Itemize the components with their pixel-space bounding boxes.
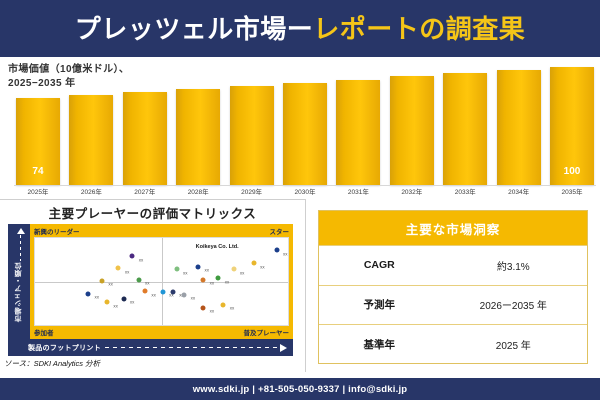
matrix-point-label: xx xyxy=(108,282,113,287)
matrix-data-point xyxy=(105,300,110,305)
insights-row-key: 基準年 xyxy=(319,337,440,352)
matrix-point-label: xx xyxy=(130,300,135,305)
source-note: ソース：SDKI Analytics 分析 xyxy=(4,358,100,369)
matrix-point-label: xx xyxy=(283,251,288,256)
x-axis-tick-label: 2030年 xyxy=(283,186,327,199)
insights-table-row: 予測年2026ー2035 年 xyxy=(319,285,587,325)
page-title-gold: レポートの調査果 xyxy=(313,14,525,44)
chart-bar: 100 xyxy=(550,67,594,185)
chart-bar xyxy=(390,76,434,185)
bar-slot xyxy=(123,61,167,185)
matrix-frame: 市場シェア・順位 新興のリーダー スター 参加者 普及プレーヤー Koikeya… xyxy=(8,224,293,339)
bar-value-label: 74 xyxy=(16,166,60,177)
insights-row-value: 2025 年 xyxy=(440,337,587,352)
matrix-data-point xyxy=(201,277,206,282)
x-axis-tick-label: 2034年 xyxy=(497,186,541,199)
x-axis-tick-label: 2026年 xyxy=(69,186,113,199)
bar-slot xyxy=(336,61,380,185)
matrix-data-point xyxy=(136,277,141,282)
right-arrow-icon xyxy=(280,344,287,352)
matrix-data-point xyxy=(231,267,236,272)
matrix-horizontal-divider xyxy=(35,282,288,283)
page-title: プレッツェル市場ーレポートの調査果 xyxy=(75,16,526,42)
matrix-x-axis: 製品のフットプリント xyxy=(8,339,293,356)
matrix-point-label: xx xyxy=(113,303,118,308)
page-title-white: プレッツェル市場ー xyxy=(75,14,314,44)
up-arrow-icon xyxy=(17,228,25,234)
chart-bar xyxy=(176,89,220,185)
bar-slot xyxy=(497,61,541,185)
matrix-data-point xyxy=(100,278,105,283)
chart-bar xyxy=(443,73,487,185)
matrix-scatter-area: Koikeya Co. Ltd. xxxxxxxxxxxxxxxxxxxxxxx… xyxy=(34,237,289,326)
bar-slot xyxy=(69,61,113,185)
matrix-data-point xyxy=(143,289,148,294)
insights-row-key: 予測年 xyxy=(319,297,440,312)
matrix-point-label: xx xyxy=(191,296,196,301)
matrix-point-label: xx xyxy=(139,257,144,262)
matrix-data-point xyxy=(196,264,201,269)
matrix-data-point xyxy=(216,276,221,281)
matrix-point-label: xx xyxy=(145,281,150,286)
matrix-data-point xyxy=(251,261,256,266)
bar-slot xyxy=(283,61,327,185)
matrix-y-axis: 市場シェア・順位 xyxy=(8,224,30,339)
matrix-point-label: xx xyxy=(205,268,210,273)
matrix-data-point xyxy=(160,289,165,294)
x-axis-tick-label: 2028年 xyxy=(176,186,220,199)
quadrant-label-stars: スター xyxy=(270,226,290,236)
x-axis-tick-label: 2032年 xyxy=(390,186,434,199)
insights-row-value: 2026ー2035 年 xyxy=(440,297,587,312)
x-axis-tick-label: 2033年 xyxy=(443,186,487,199)
bar-slot xyxy=(443,61,487,185)
chart-bar xyxy=(497,70,541,185)
insights-table-header: 主要な市場洞察 xyxy=(319,211,587,245)
matrix-data-point xyxy=(121,296,126,301)
x-axis-tick-label: 2029年 xyxy=(230,186,274,199)
bar-slot xyxy=(390,61,434,185)
insights-table-row: 基準年2025 年 xyxy=(319,324,587,364)
player-evaluation-matrix-panel: 主要プレーヤーの評価マトリックス 市場シェア・順位 新興のリーダー スター 参加… xyxy=(0,199,306,372)
quadrant-label-emerging-leaders: 新興のリーダー xyxy=(34,226,80,236)
matrix-data-point xyxy=(174,267,179,272)
x-axis-tick-label: 2027年 xyxy=(123,186,167,199)
matrix-data-point xyxy=(130,254,135,259)
market-value-bar-chart: 市場価値（10億米ドル）、 2025−2035 年 74100 2025年202… xyxy=(0,57,600,199)
matrix-inner: 新興のリーダー スター 参加者 普及プレーヤー Koikeya Co. Ltd.… xyxy=(30,224,293,339)
matrix-data-point xyxy=(201,305,206,310)
x-axis-tick-label: 2035年 xyxy=(550,186,594,199)
chart-x-axis-labels: 2025年2026年2027年2028年2029年2030年2031年2032年… xyxy=(16,186,594,199)
x-axis-tick-label: 2025年 xyxy=(16,186,60,199)
matrix-point-label: xx xyxy=(183,270,188,275)
chart-bars: 74100 xyxy=(16,61,594,185)
bar-value-label: 100 xyxy=(550,166,594,177)
chart-bar xyxy=(123,92,167,185)
quadrant-label-participants: 参加者 xyxy=(34,327,54,337)
bar-slot xyxy=(176,61,220,185)
matrix-point-label: xx xyxy=(230,306,235,311)
matrix-title: 主要プレーヤーの評価マトリックス xyxy=(0,203,305,222)
bar-slot: 100 xyxy=(550,61,594,185)
chart-bar xyxy=(69,95,113,185)
bar-slot: 74 xyxy=(16,61,60,185)
insights-row-value: 約3.1% xyxy=(440,258,587,273)
matrix-point-label: xx xyxy=(125,269,130,274)
matrix-point-label: xx xyxy=(240,270,245,275)
chart-bar: 74 xyxy=(16,98,60,185)
x-axis-tick-label: 2031年 xyxy=(336,186,380,199)
insights-table-row: CAGR約3.1% xyxy=(319,245,587,285)
chart-bar xyxy=(230,86,274,185)
matrix-leader-company-label: Koikeya Co. Ltd. xyxy=(196,244,239,250)
y-axis-dashed-line xyxy=(20,235,21,261)
matrix-data-point xyxy=(86,291,91,296)
footer-contact-text: www.sdki.jp | +81-505-050-9337 | info@sd… xyxy=(193,384,408,395)
page-footer: www.sdki.jp | +81-505-050-9337 | info@sd… xyxy=(0,378,600,400)
insights-table-body: CAGR約3.1%予測年2026ー2035 年基準年2025 年 xyxy=(319,245,587,364)
matrix-data-point xyxy=(274,248,279,253)
insights-row-key: CAGR xyxy=(319,259,440,271)
matrix-point-label: xx xyxy=(151,292,156,297)
chart-plot-area: 74100 xyxy=(16,61,594,185)
matrix-data-point xyxy=(116,266,121,271)
page-header: プレッツェル市場ーレポートの調査果 xyxy=(0,0,600,57)
matrix-point-label: xx xyxy=(260,264,265,269)
quadrant-label-pervasive-players: 普及プレーヤー xyxy=(244,327,290,337)
key-market-insights-table: 主要な市場洞察 CAGR約3.1%予測年2026ー2035 年基準年2025 年 xyxy=(318,210,588,364)
matrix-data-point xyxy=(170,289,175,294)
bar-slot xyxy=(230,61,274,185)
matrix-x-axis-label: 製品のフットプリント xyxy=(28,343,101,353)
matrix-point-label: xx xyxy=(94,295,99,300)
matrix-point-label: xx xyxy=(225,279,230,284)
chart-bar xyxy=(336,80,380,185)
chart-bar xyxy=(283,83,327,185)
matrix-data-point xyxy=(182,292,187,297)
matrix-point-label: xx xyxy=(210,309,215,314)
infographic-page: プレッツェル市場ーレポートの調査果 市場価値（10億米ドル）、 2025−203… xyxy=(0,0,600,400)
matrix-point-label: xx xyxy=(210,281,215,286)
matrix-data-point xyxy=(221,302,226,307)
x-axis-dashed-line xyxy=(105,347,278,348)
